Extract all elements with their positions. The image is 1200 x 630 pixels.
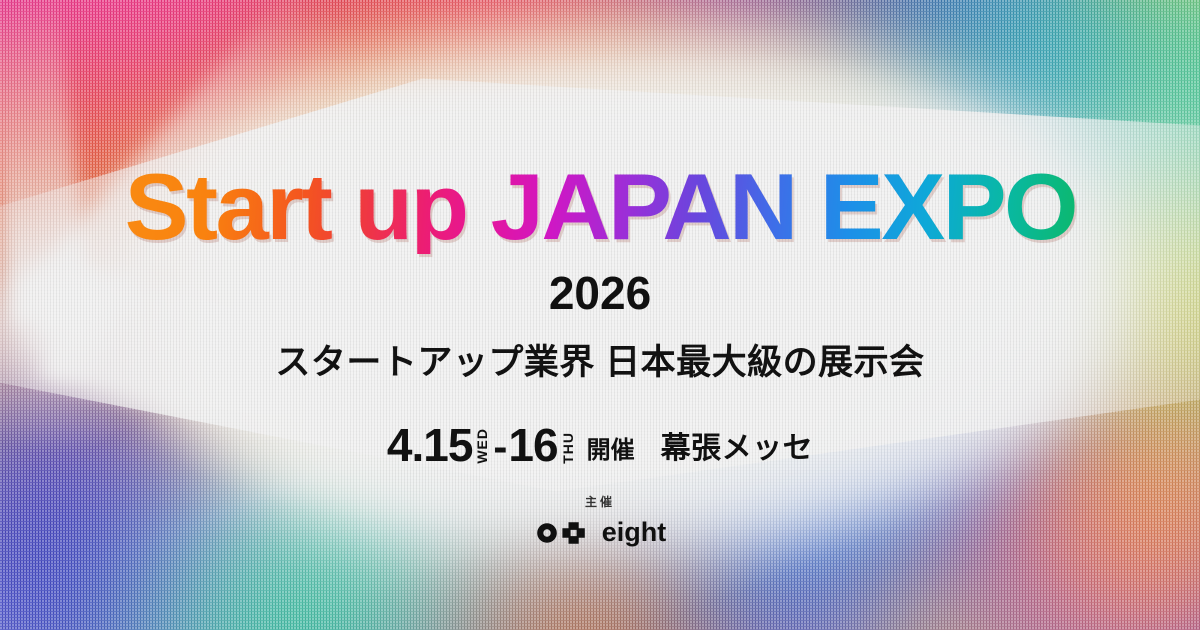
organizer-label: 主催 bbox=[585, 493, 615, 510]
organizer-name: eight bbox=[602, 517, 667, 548]
poster-content: Start up JAPAN EXPO 2026 スタートアップ業界 日本最大級… bbox=[0, 0, 1200, 630]
event-held-label: 開催 bbox=[587, 430, 635, 465]
event-year: 2026 bbox=[549, 266, 651, 320]
event-end-day: 16 bbox=[508, 423, 557, 467]
event-venue: 幕張メッセ bbox=[661, 423, 814, 467]
organizer-block: 主催 eight bbox=[534, 493, 667, 548]
poster-canvas: Start up JAPAN EXPO 2026 スタートアップ業界 日本最大級… bbox=[0, 0, 1200, 630]
event-date-dash: - bbox=[493, 427, 507, 467]
event-start-dow: WED bbox=[475, 428, 489, 464]
event-start-day: 4.15 bbox=[387, 423, 473, 467]
eight-logo-icon bbox=[534, 520, 592, 546]
event-title: Start up JAPAN EXPO bbox=[124, 160, 1075, 254]
event-end-dow: THU bbox=[561, 432, 575, 464]
organizer-logo[interactable]: eight bbox=[534, 517, 667, 548]
event-subtitle: スタートアップ業界 日本最大級の展示会 bbox=[275, 334, 924, 385]
event-dateline: 4.15 WED - 16 THU 開催 幕張メッセ bbox=[387, 423, 813, 467]
